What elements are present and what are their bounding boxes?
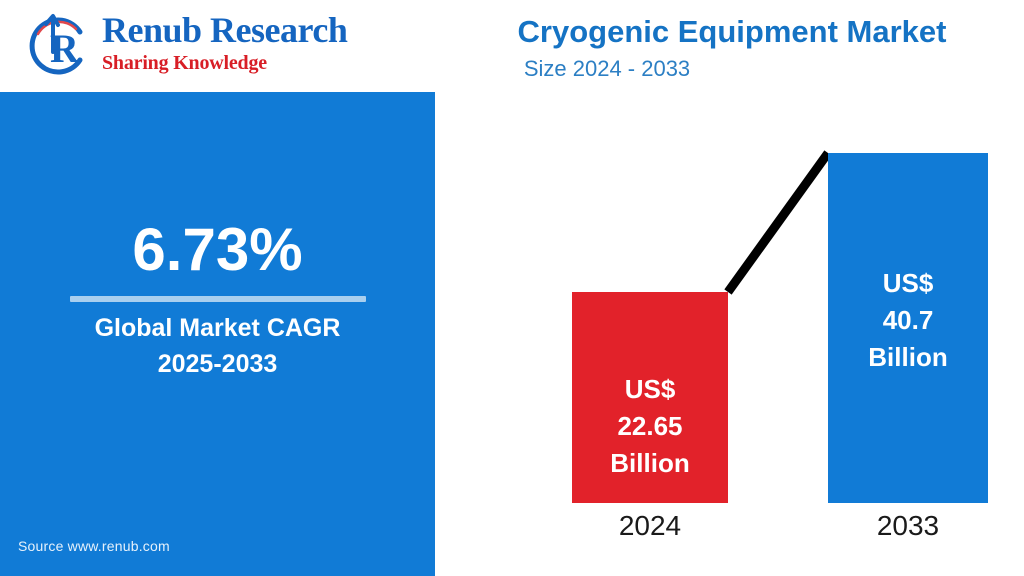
renub-r-swoosh-logo-icon: R bbox=[22, 12, 94, 78]
bar-2024-value-number: 22.65 bbox=[617, 408, 682, 445]
bar-2033-value-currency: US$ bbox=[883, 265, 934, 302]
brand-logo: R Renub Research Sharing Knowledge bbox=[22, 8, 422, 84]
brand-wordmark: Renub Research Sharing Knowledge bbox=[102, 12, 347, 75]
axis-label-2033: 2033 bbox=[828, 510, 988, 542]
bar-2024-value-currency: US$ bbox=[625, 371, 676, 408]
cagr-value: 6.73% bbox=[0, 220, 435, 280]
cagr-divider bbox=[70, 296, 366, 302]
brand-tagline: Sharing Knowledge bbox=[102, 51, 347, 75]
bar-2024[interactable]: US$ 22.65 Billion bbox=[572, 292, 728, 503]
bar-chart: US$ 22.65 Billion US$ 40.7 Billion 2024 … bbox=[440, 0, 1024, 576]
brand-name: Renub Research bbox=[102, 12, 347, 48]
svg-text:R: R bbox=[50, 26, 80, 71]
bar-2033[interactable]: US$ 40.7 Billion bbox=[828, 153, 988, 503]
cagr-caption-period: 2025-2033 bbox=[0, 346, 435, 382]
bar-2024-value-unit: Billion bbox=[610, 445, 689, 482]
source-note: Source www.renub.com bbox=[18, 538, 170, 554]
bar-2033-value-unit: Billion bbox=[868, 339, 947, 376]
cagr-caption-primary: Global Market CAGR bbox=[0, 310, 435, 346]
cagr-stack: 6.73% Global Market CAGR 2025-2033 bbox=[0, 220, 435, 383]
bar-2033-value-number: 40.7 bbox=[883, 302, 934, 339]
cagr-panel: 6.73% Global Market CAGR 2025-2033 Sourc… bbox=[0, 92, 435, 576]
axis-label-2024: 2024 bbox=[572, 510, 728, 542]
